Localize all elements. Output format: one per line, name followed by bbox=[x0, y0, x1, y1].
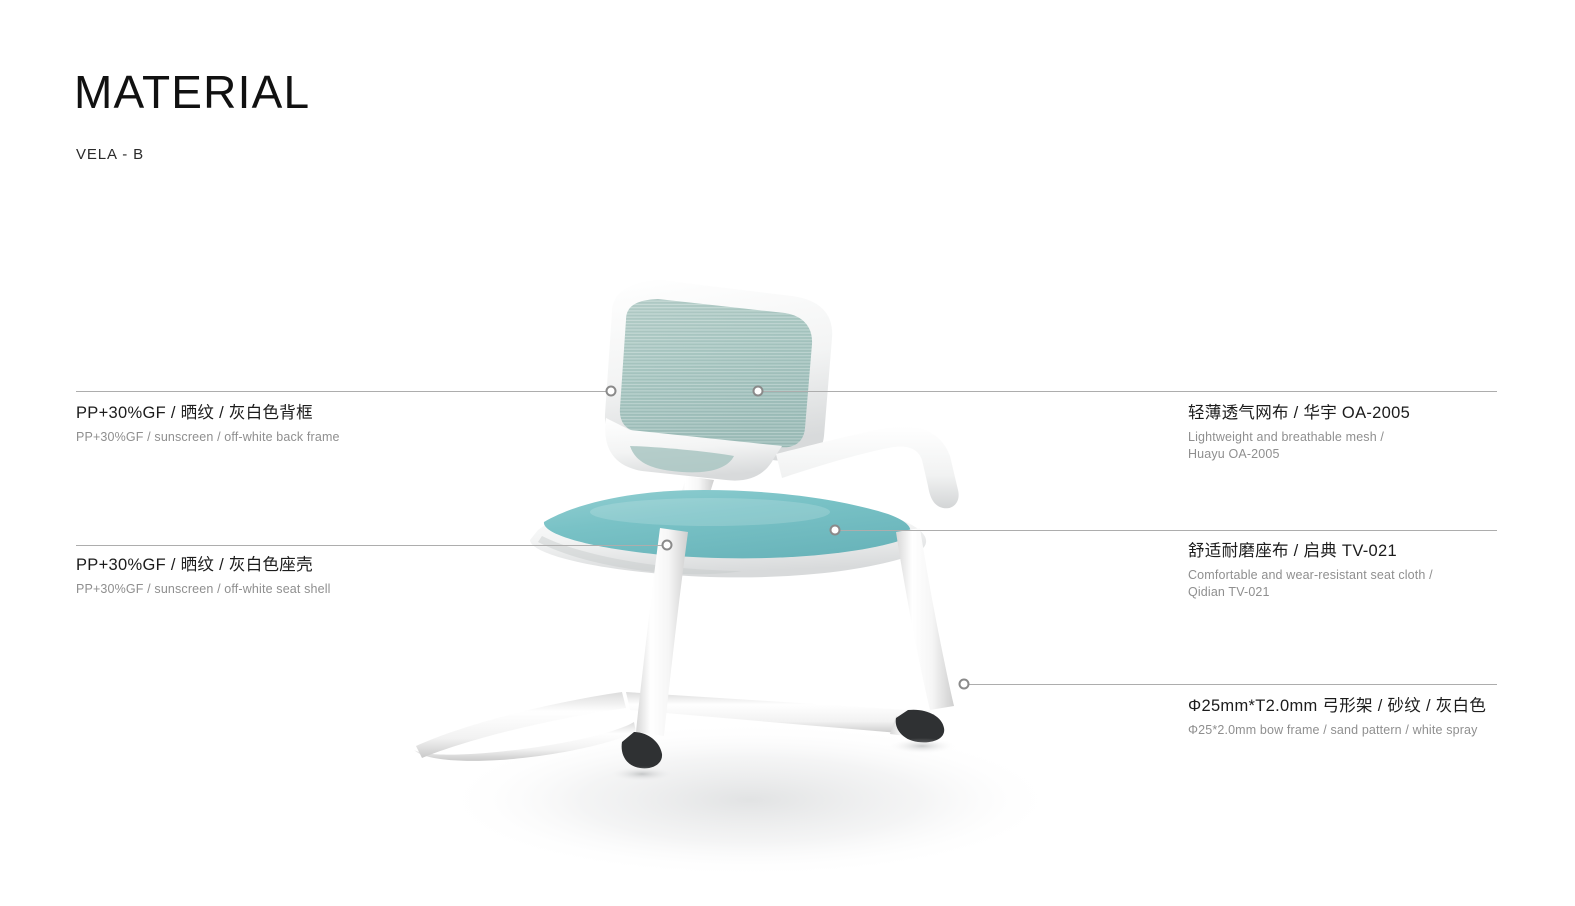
callout-seat-cloth-cn: 舒适耐磨座布 / 启典 TV-021 bbox=[1188, 540, 1433, 562]
leader-line-back-frame bbox=[76, 391, 611, 392]
connector-dot-seat-shell bbox=[662, 540, 673, 551]
leader-line-seat-shell bbox=[76, 545, 667, 546]
material-spec-page: MATERIAL VELA - B bbox=[0, 0, 1575, 906]
connector-dot-seat-cloth bbox=[830, 525, 841, 536]
connector-dot-back-mesh bbox=[753, 386, 764, 397]
callout-back-mesh-en-line1: Lightweight and breathable mesh / bbox=[1188, 429, 1410, 446]
callout-bow-frame-en: Φ25*2.0mm bow frame / sand pattern / whi… bbox=[1188, 722, 1486, 739]
callout-seat-cloth-en-line1: Comfortable and wear-resistant seat clot… bbox=[1188, 567, 1433, 584]
callout-back-mesh: 轻薄透气网布 / 华宇 OA-2005 Lightweight and brea… bbox=[1188, 402, 1410, 462]
callout-seat-cloth: 舒适耐磨座布 / 启典 TV-021 Comfortable and wear-… bbox=[1188, 540, 1433, 600]
callout-back-mesh-en-line2: Huayu OA-2005 bbox=[1188, 446, 1410, 463]
leader-line-back-mesh bbox=[758, 391, 1497, 392]
page-title: MATERIAL bbox=[74, 68, 310, 116]
callout-seat-cloth-en: Comfortable and wear-resistant seat clot… bbox=[1188, 567, 1433, 600]
callout-back-frame: PP+30%GF / 晒纹 / 灰白色背框 PP+30%GF / sunscre… bbox=[76, 402, 340, 446]
floor-shadow bbox=[440, 722, 1060, 878]
callout-back-mesh-cn: 轻薄透气网布 / 华宇 OA-2005 bbox=[1188, 402, 1410, 424]
callout-back-frame-en: PP+30%GF / sunscreen / off-white back fr… bbox=[76, 429, 340, 446]
callout-seat-shell: PP+30%GF / 晒纹 / 灰白色座壳 PP+30%GF / sunscre… bbox=[76, 554, 331, 598]
callout-back-frame-cn: PP+30%GF / 晒纹 / 灰白色背框 bbox=[76, 402, 340, 424]
leader-line-bow-frame bbox=[964, 684, 1497, 685]
product-render bbox=[330, 240, 1230, 880]
connector-dot-bow-frame bbox=[959, 679, 970, 690]
page-subtitle-model: VELA - B bbox=[76, 146, 144, 163]
bow-frame-right-upright bbox=[896, 528, 954, 710]
callout-back-mesh-en: Lightweight and breathable mesh / Huayu … bbox=[1188, 429, 1410, 462]
connector-dot-back-frame bbox=[606, 386, 617, 397]
callout-seat-shell-en: PP+30%GF / sunscreen / off-white seat sh… bbox=[76, 581, 331, 598]
callout-bow-frame-cn: Φ25mm*T2.0mm 弓形架 / 砂纹 / 灰白色 bbox=[1188, 695, 1486, 717]
callout-seat-cloth-en-line2: Qidian TV-021 bbox=[1188, 584, 1433, 601]
leader-line-seat-cloth bbox=[835, 530, 1497, 531]
callout-seat-shell-cn: PP+30%GF / 晒纹 / 灰白色座壳 bbox=[76, 554, 331, 576]
callout-bow-frame: Φ25mm*T2.0mm 弓形架 / 砂纹 / 灰白色 Φ25*2.0mm bo… bbox=[1188, 695, 1486, 739]
